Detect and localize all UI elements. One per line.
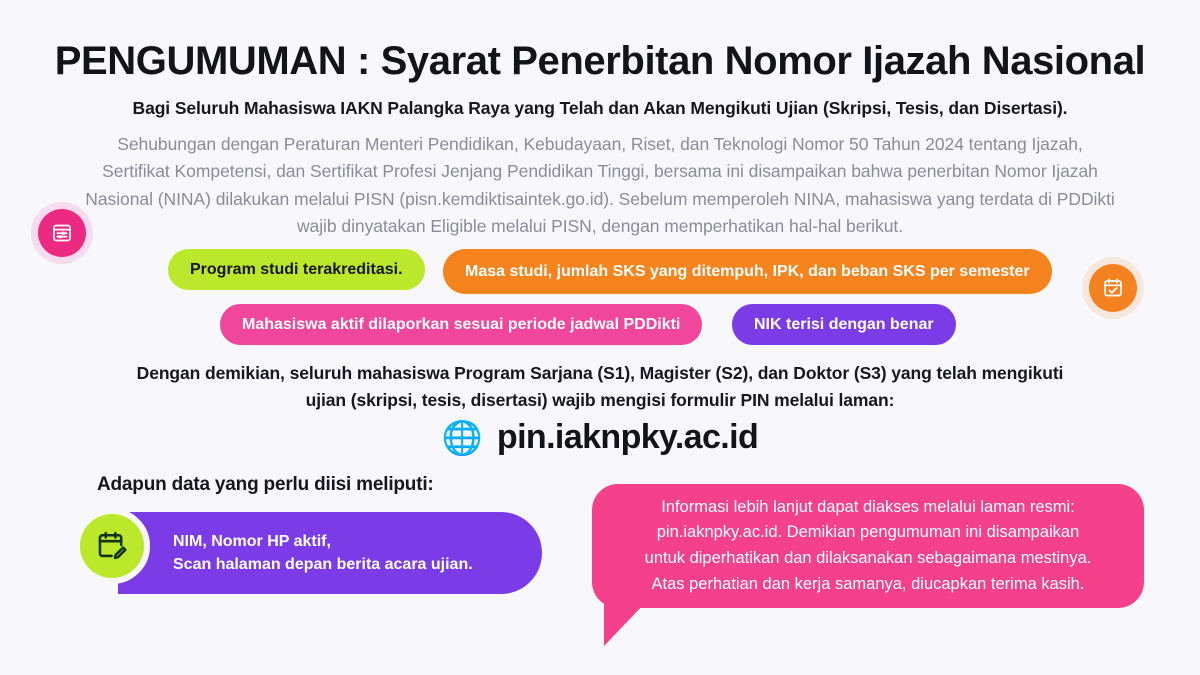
callout-line-1: NIM, Nomor HP aktif, bbox=[173, 533, 331, 550]
document-form-icon bbox=[38, 209, 86, 257]
bubble-line-4: Atas perhatian dan kerja samanya, diucap… bbox=[645, 572, 1092, 598]
callout-text: NIM, Nomor HP aktif, Scan halaman depan … bbox=[173, 530, 473, 576]
mid-paragraph-line-2: ujian (skripsi, tesis, disertasi) wajib … bbox=[70, 387, 1130, 414]
requirement-pill-3: Mahasiswa aktif dilaporkan sesuai period… bbox=[220, 304, 702, 345]
info-speech-bubble: Informasi lebih lanjut dapat diakses mel… bbox=[592, 484, 1144, 608]
page-title: PENGUMUMAN : Syarat Penerbitan Nomor Ija… bbox=[0, 38, 1200, 84]
calendar-edit-icon bbox=[74, 508, 150, 584]
requirement-pill-1: Program studi terakreditasi. bbox=[168, 249, 425, 290]
data-requirements-callout: NIM, Nomor HP aktif, Scan halaman depan … bbox=[118, 512, 542, 594]
speech-bubble-text: Informasi lebih lanjut dapat diakses mel… bbox=[645, 495, 1092, 597]
calendar-check-icon bbox=[1089, 264, 1137, 312]
announcement-poster: PENGUMUMAN : Syarat Penerbitan Nomor Ija… bbox=[0, 0, 1200, 675]
requirement-pill-2: Masa studi, jumlah SKS yang ditempuh, IP… bbox=[443, 249, 1052, 294]
globe-icon: 🌐 bbox=[442, 421, 483, 454]
intro-paragraph: Sehubungan dengan Peraturan Menteri Pend… bbox=[85, 131, 1115, 241]
data-section-heading: Adapun data yang perlu diisi meliputi: bbox=[97, 474, 434, 496]
website-url[interactable]: pin.iaknpky.ac.id bbox=[497, 418, 758, 457]
bubble-line-1: Informasi lebih lanjut dapat diakses mel… bbox=[645, 495, 1092, 521]
requirement-pill-4: NIK terisi dengan benar bbox=[732, 304, 956, 345]
bubble-line-2: pin.iaknpky.ac.id. Demikian pengumuman i… bbox=[645, 520, 1092, 546]
mid-paragraph-line-1: Dengan demikian, seluruh mahasiswa Progr… bbox=[70, 360, 1130, 387]
callout-line-2: Scan halaman depan berita acara ujian. bbox=[173, 553, 473, 576]
mid-paragraph: Dengan demikian, seluruh mahasiswa Progr… bbox=[70, 360, 1130, 413]
website-url-row[interactable]: 🌐 pin.iaknpky.ac.id bbox=[0, 418, 1200, 457]
bubble-line-3: untuk diperhatikan dan dilaksanakan seba… bbox=[645, 546, 1092, 572]
page-subtitle: Bagi Seluruh Mahasiswa IAKN Palangka Ray… bbox=[0, 98, 1200, 119]
speech-bubble-tail bbox=[604, 602, 646, 646]
